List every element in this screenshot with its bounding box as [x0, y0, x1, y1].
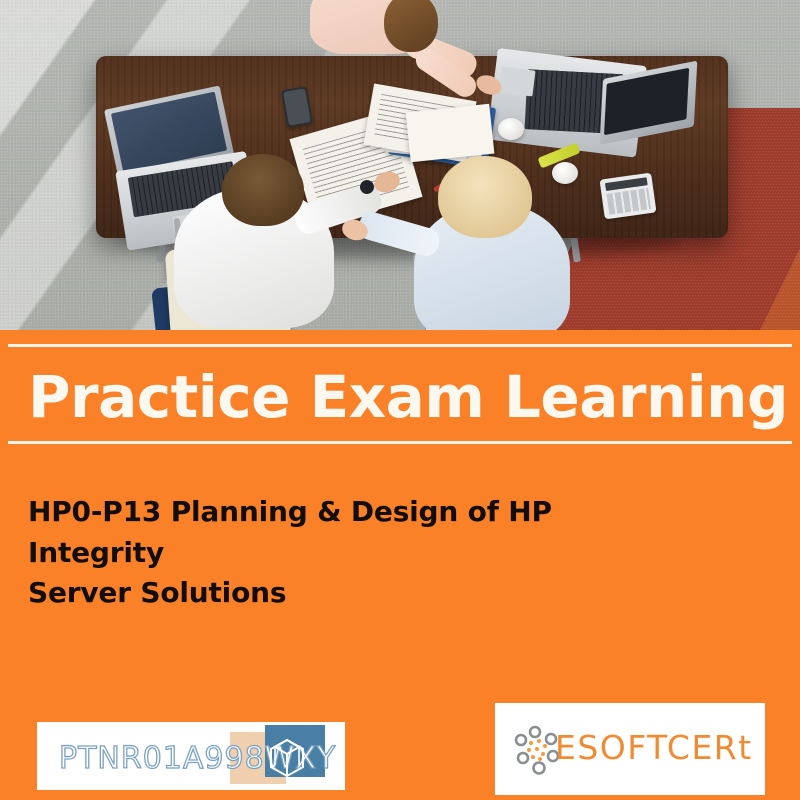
laptop-trackpad	[499, 67, 536, 97]
coffee-cup-icon	[498, 118, 524, 140]
calculator-icon	[599, 173, 656, 220]
person-head	[222, 154, 304, 226]
ptnr-watermark-logo: PTNR01A998WXY	[37, 722, 345, 790]
person-head	[438, 156, 532, 238]
exam-poster: Practice Exam Learning HP0-P13 Planning …	[0, 0, 800, 800]
exam-subtitle: HP0-P13 Planning & Design of HP Integrit…	[28, 492, 678, 614]
header-photo	[0, 0, 800, 330]
esoftcert-wordmark: ESOFTCERt	[555, 728, 753, 767]
coffee-cup-icon	[552, 162, 578, 184]
document-paper	[406, 104, 495, 163]
page-title: Practice Exam Learning	[28, 358, 788, 436]
exam-subtitle-line1: HP0-P13 Planning & Design of HP Integrit…	[28, 492, 678, 573]
exam-subtitle-line2: Server Solutions	[28, 573, 678, 614]
title-rule-top	[8, 344, 792, 347]
title-rule-bottom	[8, 441, 792, 444]
cube-icon	[265, 736, 309, 780]
person-head	[384, 0, 438, 52]
esoftcert-logo: ESOFTCERt	[495, 703, 765, 795]
